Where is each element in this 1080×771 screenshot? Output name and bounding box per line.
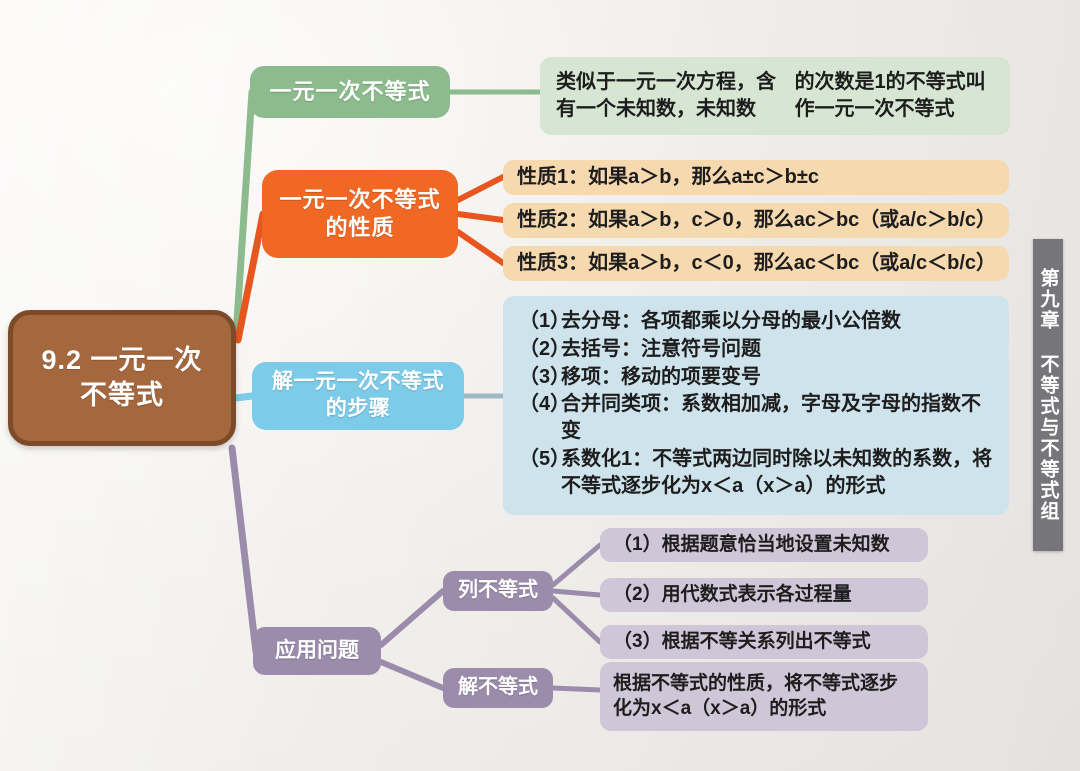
step-number: （3） (519, 364, 561, 391)
leaf-solve-1: 根据不等式的性质，将不等式逐步 化为x＜a（x＞a）的形式 (600, 662, 928, 731)
step-text: 移项：移动的项要变号 (561, 364, 993, 391)
properties-label-line2: 的性质 (279, 214, 440, 242)
steps-label-line2: 的步骤 (272, 396, 444, 423)
sub-branch-node-build-inequality[interactable]: 列不等式 (443, 571, 553, 611)
step-item: （2） 去括号：注意符号问题 (519, 336, 993, 363)
step-number: （5） (519, 446, 561, 500)
chapter-side-tab: 第九章 不等式与不等式组 (1033, 239, 1063, 551)
step-item: （4） 合并同类项：系数相加减，字母及字母的指数不变 (519, 391, 993, 445)
leaf-property-1: 性质1：如果a＞b，那么a±c＞b±c (503, 160, 1009, 195)
step-text: 系数化1：不等式两边同时除以未知数的系数，将不等式逐步化为x＜a（x＞a）的形式 (561, 446, 993, 500)
root-title-line1: 9.2 一元一次 (41, 343, 202, 378)
branch-node-applications[interactable]: 应用问题 (253, 627, 381, 675)
leaf-steps-list: （1） 去分母：各项都乘以分母的最小公倍数 （2） 去括号：注意符号问题 （3）… (503, 296, 1009, 515)
step-number: （1） (519, 308, 561, 335)
properties-label-line1: 一元一次不等式 (279, 186, 440, 214)
steps-label-line1: 解一元一次不等式 (272, 369, 444, 396)
leaf-property-3: 性质3：如果a＞b，c＜0，那么ac＜bc（或a/c＜b/c） (503, 246, 1009, 281)
branch-node-definition[interactable]: 一元一次不等式 (250, 66, 450, 118)
root-node[interactable]: 9.2 一元一次 不等式 (8, 310, 236, 446)
sub-branch-node-solve-inequality[interactable]: 解不等式 (443, 668, 553, 708)
leaf-build-2: （2）用代数式表示各过程量 (600, 578, 928, 612)
step-item: （5） 系数化1：不等式两边同时除以未知数的系数，将不等式逐步化为x＜a（x＞a… (519, 446, 993, 500)
step-item: （3） 移项：移动的项要变号 (519, 364, 993, 391)
leaf-property-2: 性质2：如果a＞b，c＞0，那么ac＞bc（或a/c＞b/c） (503, 203, 1009, 238)
step-number: （2） (519, 336, 561, 363)
definition-line1: 类似于一元一次方程，含有一个未知数，未知数 (556, 69, 795, 123)
step-item: （1） 去分母：各项都乘以分母的最小公倍数 (519, 308, 993, 335)
step-text: 去括号：注意符号问题 (561, 336, 993, 363)
branch-node-properties[interactable]: 一元一次不等式 的性质 (262, 170, 458, 258)
step-text: 合并同类项：系数相加减，字母及字母的指数不变 (561, 391, 993, 445)
step-number: （4） (519, 391, 561, 445)
leaf-build-1: （1）根据题意恰当地设置未知数 (600, 528, 928, 562)
branch-node-steps[interactable]: 解一元一次不等式 的步骤 (252, 362, 464, 430)
solve-line1: 根据不等式的性质，将不等式逐步 (613, 671, 915, 696)
steps-list: （1） 去分母：各项都乘以分母的最小公倍数 （2） 去括号：注意符号问题 （3）… (519, 308, 993, 501)
step-text: 去分母：各项都乘以分母的最小公倍数 (561, 308, 993, 335)
root-title-line2: 不等式 (41, 378, 202, 413)
leaf-definition-text: 类似于一元一次方程，含有一个未知数，未知数 的次数是1的不等式叫作一元一次不等式 (540, 57, 1010, 135)
definition-line2: 的次数是1的不等式叫作一元一次不等式 (795, 69, 994, 123)
leaf-build-3: （3）根据不等关系列出不等式 (600, 625, 928, 659)
solve-line2: 化为x＜a（x＞a）的形式 (613, 696, 915, 721)
